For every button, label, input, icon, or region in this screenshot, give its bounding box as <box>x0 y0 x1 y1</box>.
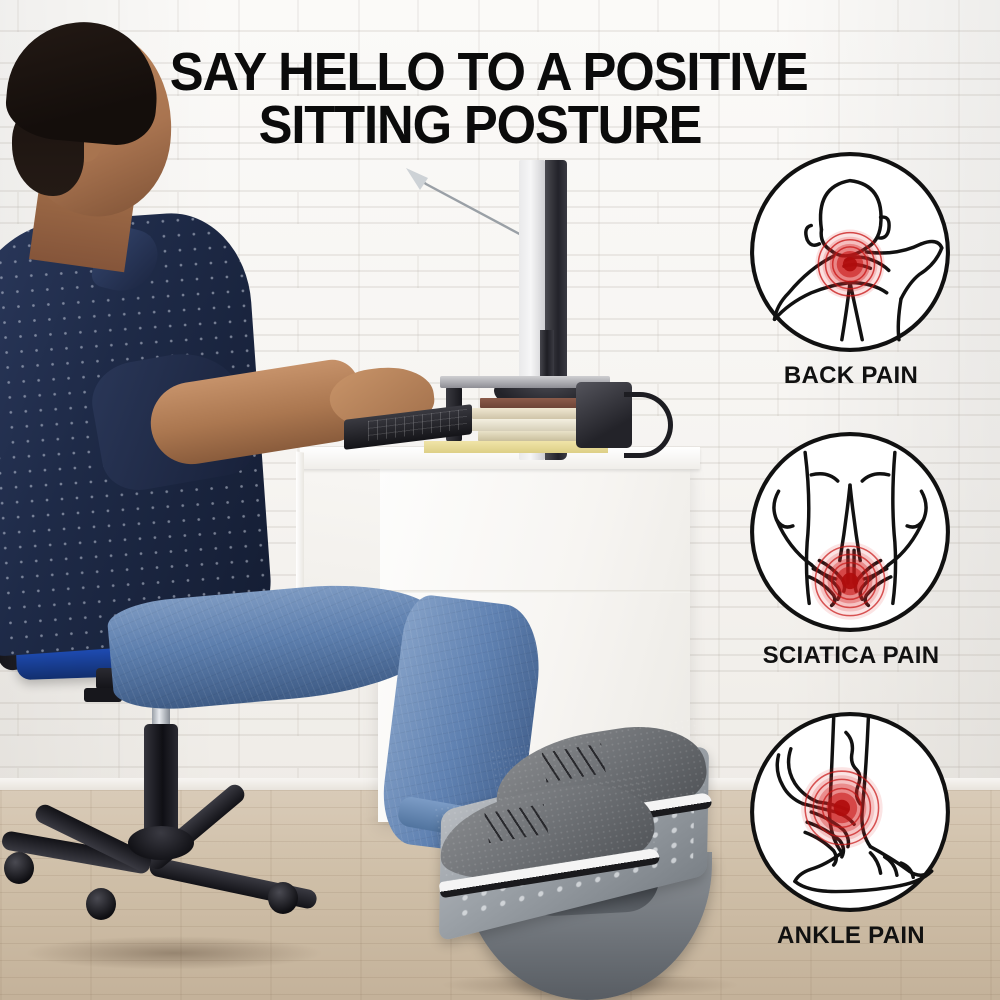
pain-points-list: BACK PAIN <box>736 150 966 990</box>
back-pain-icon <box>748 150 952 354</box>
pain-point-ankle: ANKLE PAIN <box>736 710 966 990</box>
page-title: SAY HELLO TO A POSITIVE SITTING POSTURE <box>170 46 790 153</box>
chair-gas-cylinder <box>144 724 178 834</box>
pain-point-label: SCIATICA PAIN <box>736 642 966 670</box>
pain-rings <box>811 542 889 620</box>
pain-rings <box>815 230 884 299</box>
pain-rings <box>801 767 883 849</box>
sciatica-pain-icon <box>748 430 952 634</box>
chair-caster <box>4 852 34 884</box>
ankle-pain-icon <box>748 710 952 914</box>
chair-caster <box>86 888 116 920</box>
pain-point-label: ANKLE PAIN <box>736 922 966 950</box>
desk-drawer-seam <box>378 590 690 593</box>
chair-base-hub <box>128 826 194 860</box>
chair-caster <box>268 882 298 914</box>
pain-point-label: BACK PAIN <box>736 362 966 390</box>
pain-point-sciatica: SCIATICA PAIN <box>736 430 966 710</box>
pain-point-back: BACK PAIN <box>736 150 966 430</box>
headline-line-2: SITTING POSTURE <box>170 99 790 152</box>
chair-shadow <box>24 936 324 970</box>
headline-line-1: SAY HELLO TO A POSITIVE <box>170 46 790 99</box>
product-marketing-image: SAY HELLO TO A POSITIVE SITTING POSTURE <box>0 0 1000 1000</box>
